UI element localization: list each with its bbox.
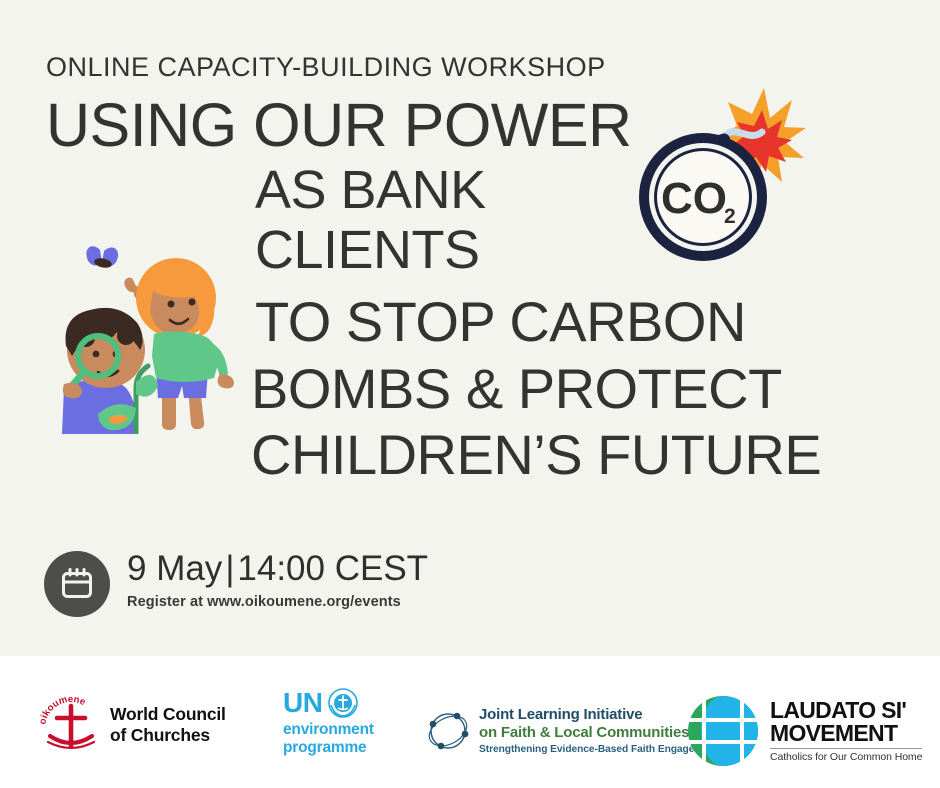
event-date-separator: | <box>222 549 237 588</box>
logo-world-council-of-churches[interactable]: oikoumene World Council of Churches <box>40 696 226 754</box>
event-datetime: 9 May|14:00 CEST <box>127 551 428 588</box>
event-poster: ONLINE CAPACITY-BUILDING WORKSHOP USING … <box>0 0 940 788</box>
un-emblem-icon <box>328 688 358 718</box>
wcc-oikoumene-emblem-icon: oikoumene <box>40 696 102 754</box>
boy-figure <box>62 308 158 434</box>
event-date-text: 9 May|14:00 CEST Register at www.oikoume… <box>127 549 428 610</box>
lsm-wordmark: LAUDATO SI' MOVEMENT Catholics for Our C… <box>770 699 922 764</box>
event-time-value: 14:00 CEST <box>237 549 428 588</box>
jli-line-2: on Faith & Local Communities <box>479 724 718 742</box>
unep-un-text: UN <box>283 689 322 717</box>
laudato-si-globe-icon <box>686 694 760 768</box>
jli-tagline: Strengthening Evidence-Based Faith Engag… <box>479 744 718 755</box>
wcc-line-1: World Council <box>110 704 226 725</box>
headline-line-2: AS BANK <box>255 164 486 216</box>
register-link[interactable]: Register at www.oikoumene.org/events <box>127 594 428 610</box>
lsm-line-1: LAUDATO SI' <box>770 699 922 722</box>
bomb-co2-subscript: 2 <box>724 205 736 228</box>
lsm-line-2: MOVEMENT <box>770 722 922 745</box>
calendar-icon <box>44 551 110 617</box>
unep-top-row: UN <box>283 688 374 718</box>
children-illustration <box>58 238 254 434</box>
logo-laudato-si-movement[interactable]: LAUDATO SI' MOVEMENT Catholics for Our C… <box>686 694 922 768</box>
headline-line-6: CHILDREN’S FUTURE <box>251 428 821 482</box>
butterfly-icon <box>86 246 118 269</box>
logo-joint-learning-initiative[interactable]: Joint Learning Initiative on Faith & Loc… <box>424 706 718 755</box>
jli-network-circle-icon <box>424 707 472 755</box>
headline-line-3: CLIENTS <box>255 224 480 276</box>
headline-line-5: BOMBS & PROTECT <box>251 362 782 416</box>
unep-line-3: programme <box>283 739 374 757</box>
lsm-divider <box>770 748 922 749</box>
event-date-block: 9 May|14:00 CEST Register at www.oikoume… <box>44 549 428 617</box>
bomb-co2-text: CO <box>661 174 727 223</box>
footer-logo-bar: oikoumene World Council of Churches UN <box>0 656 940 788</box>
lsm-tagline: Catholics for Our Common Home <box>770 751 922 763</box>
wcc-emblem-text: oikoumene <box>40 696 87 726</box>
partner-logos: oikoumene World Council of Churches UN <box>0 656 940 788</box>
wcc-wordmark: World Council of Churches <box>110 704 226 745</box>
event-date-value: 9 May <box>127 549 222 588</box>
jli-wordmark: Joint Learning Initiative on Faith & Loc… <box>479 706 718 755</box>
calendar-glyph <box>59 566 95 602</box>
eyebrow-label: ONLINE CAPACITY-BUILDING WORKSHOP <box>46 52 606 83</box>
logo-un-environment-programme[interactable]: UN environment programme <box>283 688 374 758</box>
headline-line-1: USING OUR POWER <box>46 96 632 155</box>
jli-line-1: Joint Learning Initiative <box>479 706 718 724</box>
svg-text:oikoumene: oikoumene <box>40 696 87 726</box>
headline-line-4: TO STOP CARBON <box>255 295 746 349</box>
unep-wordmark: environment programme <box>283 721 374 758</box>
co2-bomb-icon: CO 2 <box>616 82 806 268</box>
unep-line-2: environment <box>283 721 374 739</box>
wcc-line-2: of Churches <box>110 725 226 746</box>
